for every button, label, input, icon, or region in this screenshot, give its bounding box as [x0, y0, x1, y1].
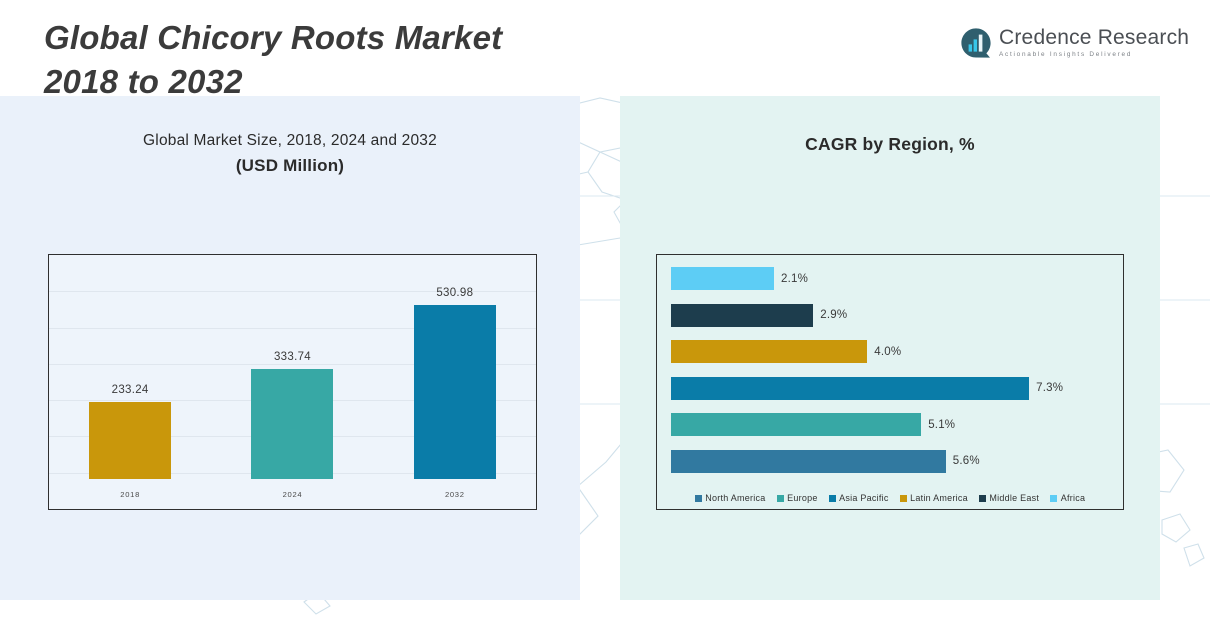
bar-chart-circle-icon — [960, 27, 992, 59]
bar-value-label: 5.6% — [953, 455, 980, 467]
right-panel-title: CAGR by Region, % — [620, 134, 1160, 155]
column-value-label: 233.24 — [112, 384, 149, 396]
legend-label: Africa — [1061, 493, 1086, 503]
bar-row: 7.3% — [671, 377, 1117, 400]
legend-swatch — [1050, 495, 1057, 502]
bar-fill[interactable] — [671, 267, 774, 290]
column-group: 530.98 — [374, 255, 536, 479]
legend-label: Latin America — [910, 493, 968, 503]
bar-value-label: 4.0% — [874, 346, 901, 358]
legend-swatch — [979, 495, 986, 502]
market-size-column-chart: 233.24333.74530.98 201820242032 — [48, 254, 537, 510]
column-axis-label: 2024 — [211, 490, 373, 499]
bar-value-label: 7.3% — [1036, 382, 1063, 394]
bar-value-label: 2.9% — [820, 309, 847, 321]
panel-cagr-by-region: CAGR by Region, % 2.1%2.9%4.0%7.3%5.1%5.… — [620, 96, 1160, 600]
bar-value-label: 5.1% — [928, 419, 955, 431]
column-chart-x-axis: 201820242032 — [49, 479, 536, 509]
left-panel-unit-label: (USD Million) — [0, 156, 580, 176]
bar-row: 2.9% — [671, 304, 1117, 327]
legend-swatch — [829, 495, 836, 502]
left-panel-subtitle: Global Market Size, 2018, 2024 and 2032 — [0, 132, 580, 150]
column-axis-label: 2018 — [49, 490, 211, 499]
cagr-bar-chart: 2.1%2.9%4.0%7.3%5.1%5.6% North AmericaEu… — [656, 254, 1124, 510]
infographic-canvas: Global Chicory Roots Market 2018 to 2032… — [0, 0, 1210, 620]
legend-item[interactable]: Europe — [777, 493, 818, 503]
legend-item[interactable]: North America — [695, 493, 766, 503]
column-bar[interactable] — [251, 369, 333, 479]
cagr-chart-plot-area: 2.1%2.9%4.0%7.3%5.1%5.6% — [671, 267, 1117, 473]
legend-item[interactable]: Asia Pacific — [829, 493, 889, 503]
bar-fill[interactable] — [671, 413, 921, 436]
legend-item[interactable]: Africa — [1050, 493, 1085, 503]
column-group: 333.74 — [211, 255, 373, 479]
bar-row: 2.1% — [671, 267, 1117, 290]
legend-label: North America — [705, 493, 765, 503]
page-title: Global Chicory Roots Market 2018 to 2032 — [44, 16, 664, 103]
legend-item[interactable]: Latin America — [900, 493, 968, 503]
bar-fill[interactable] — [671, 450, 946, 473]
column-chart-plot-area: 233.24333.74530.98 — [49, 255, 536, 479]
bar-fill[interactable] — [671, 377, 1029, 400]
column-bar[interactable] — [89, 402, 171, 479]
bar-value-label: 2.1% — [781, 273, 808, 285]
bar-row: 5.6% — [671, 450, 1117, 473]
logo-tagline: Actionable Insights Delivered — [999, 52, 1189, 58]
bar-fill[interactable] — [671, 340, 867, 363]
legend-swatch — [777, 495, 784, 502]
legend-label: Asia Pacific — [839, 493, 889, 503]
bar-fill[interactable] — [671, 304, 813, 327]
legend-swatch — [900, 495, 907, 502]
legend-swatch — [695, 495, 702, 502]
column-bar[interactable] — [414, 305, 496, 479]
legend-label: Europe — [787, 493, 818, 503]
column-value-label: 530.98 — [436, 287, 473, 299]
column-value-label: 333.74 — [274, 351, 311, 363]
brand-logo[interactable]: Credence Research Actionable Insights De… — [960, 20, 1170, 66]
logo-name: Credence Research — [999, 27, 1189, 48]
legend-item[interactable]: Middle East — [979, 493, 1039, 503]
panel-global-market-size: Global Market Size, 2018, 2024 and 2032 … — [0, 96, 580, 600]
column-axis-label: 2032 — [374, 490, 536, 499]
header-bar: Global Chicory Roots Market 2018 to 2032… — [0, 0, 1210, 96]
bar-row: 4.0% — [671, 340, 1117, 363]
cagr-chart-legend: North AmericaEuropeAsia PacificLatin Ame… — [657, 493, 1123, 503]
logo-text: Credence Research Actionable Insights De… — [999, 27, 1189, 58]
legend-label: Middle East — [989, 493, 1039, 503]
column-group: 233.24 — [49, 255, 211, 479]
bar-row: 5.1% — [671, 413, 1117, 436]
